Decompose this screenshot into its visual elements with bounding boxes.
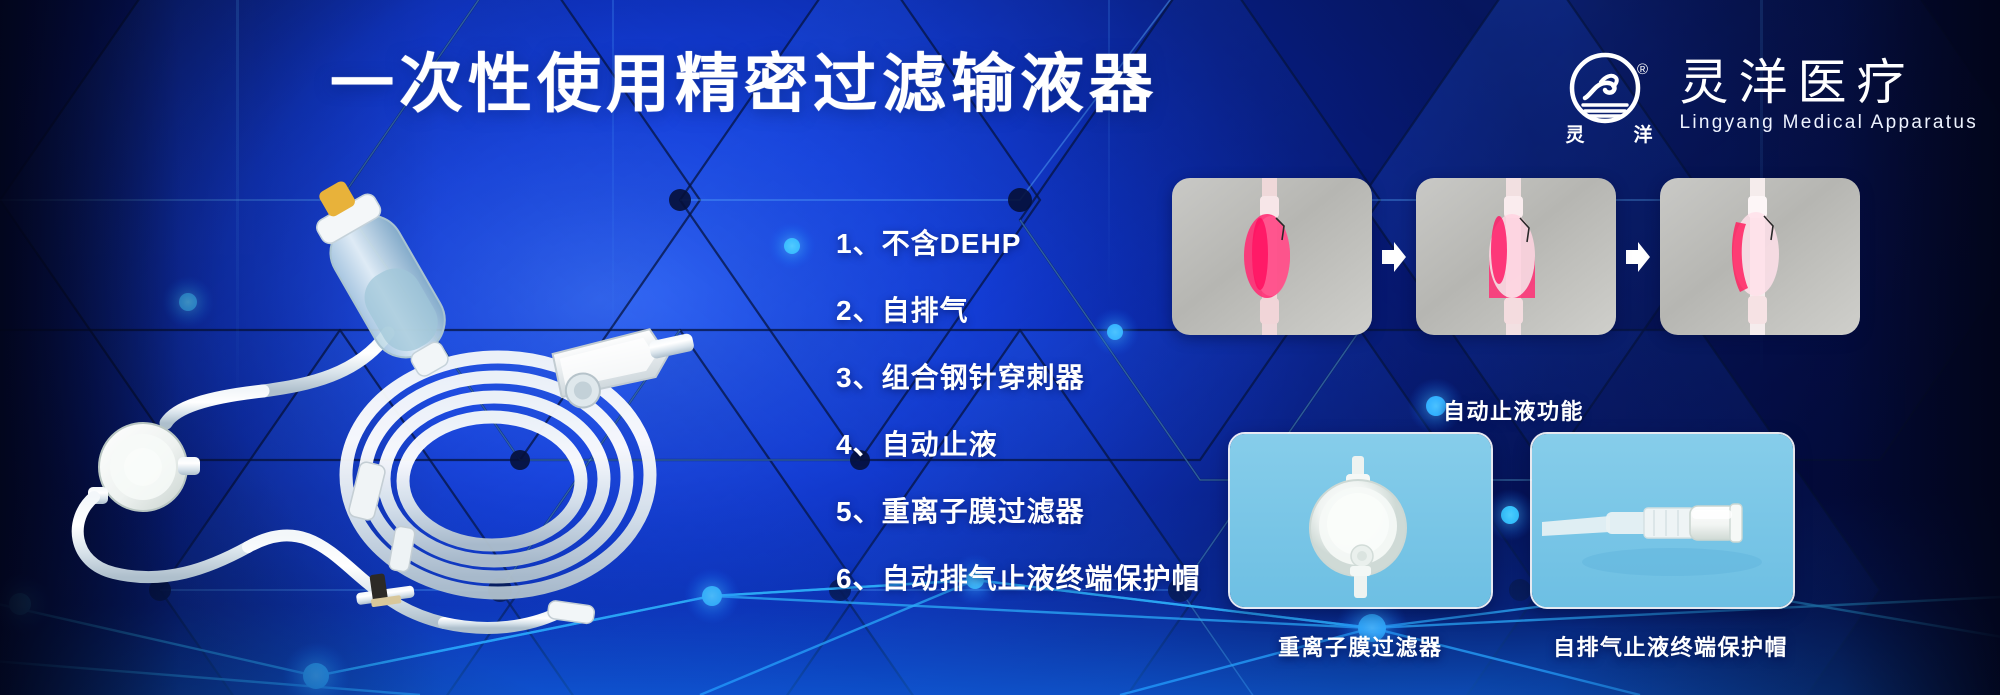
roller-clamp bbox=[552, 321, 702, 412]
heavy-ion-membrane-filter bbox=[1228, 432, 1493, 609]
end-cap-caption: 自排气止液终端保护帽 bbox=[1553, 630, 1788, 662]
emblem-sub-left: 灵 bbox=[1565, 120, 1585, 147]
lingyang-emblem-icon: ® 灵 洋 bbox=[1561, 48, 1657, 144]
arrow-right-icon bbox=[1625, 241, 1651, 273]
company-logo: ® 灵 洋 灵洋医疗 Lingyang Medical Apparatus bbox=[1561, 48, 1978, 144]
feature-item-4: 4、自动止液 bbox=[836, 423, 1201, 463]
emblem-sub-right: 洋 bbox=[1633, 120, 1653, 147]
sequence-arrow-1 bbox=[1372, 241, 1416, 273]
precision-filter-disc bbox=[88, 423, 200, 511]
auto-stop-frame-2 bbox=[1416, 178, 1616, 335]
feature-item-6: 6、自动排气止液终端保护帽 bbox=[836, 557, 1201, 597]
feature-item-2: 2、自排气 bbox=[836, 289, 1201, 329]
feature-item-5: 5、重离子膜过滤器 bbox=[836, 490, 1201, 530]
arrow-right-icon bbox=[1381, 241, 1407, 273]
company-name-cn: 灵洋医疗 bbox=[1679, 58, 1978, 109]
sequence-arrow-2 bbox=[1616, 241, 1660, 273]
infusion-set-photo bbox=[58, 175, 778, 635]
auto-stop-frame-3 bbox=[1660, 178, 1860, 335]
lower-photo-row bbox=[1228, 432, 1795, 609]
banner-title: 一次性使用精密过滤输液器 bbox=[330, 52, 1158, 116]
svg-text:®: ® bbox=[1637, 61, 1648, 78]
company-name-en: Lingyang Medical Apparatus bbox=[1679, 112, 1978, 134]
feature-item-1: 1、不含DEHP bbox=[836, 222, 1201, 262]
feature-item-3: 3、组合钢针穿刺器 bbox=[836, 356, 1201, 396]
drip-chamber bbox=[298, 175, 468, 389]
company-name-block: 灵洋医疗 Lingyang Medical Apparatus bbox=[1679, 58, 1978, 133]
feature-list: 1、不含DEHP 2、自排气 3、组合钢针穿刺器 4、自动止液 5、重离子膜过滤… bbox=[836, 222, 1201, 597]
auto-stop-frame-1 bbox=[1172, 178, 1372, 335]
filter-caption: 重离子膜过滤器 bbox=[1278, 630, 1443, 662]
self-venting-end-cap bbox=[1530, 432, 1795, 609]
auto-stop-sequence bbox=[1172, 178, 1860, 335]
sequence-caption: 自动止液功能 bbox=[1443, 394, 1584, 426]
product-banner: 一次性使用精密过滤输液器 ® 灵 洋 灵洋医疗 Lingyang Medical… bbox=[0, 0, 2000, 695]
